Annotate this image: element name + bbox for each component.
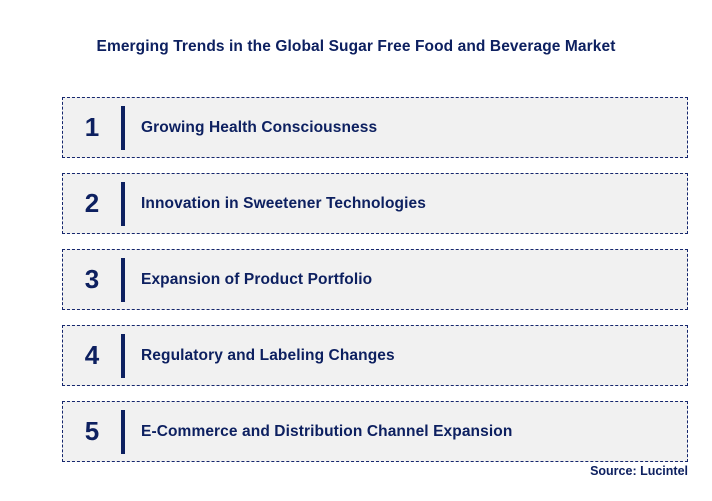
trend-label: E-Commerce and Distribution Channel Expa… [125,423,687,441]
trend-item-5: 5 E-Commerce and Distribution Channel Ex… [62,401,688,462]
trend-item-1: 1 Growing Health Consciousness [62,97,688,158]
trend-label: Growing Health Consciousness [125,119,687,137]
trend-item-2: 2 Innovation in Sweetener Technologies [62,173,688,234]
trend-label: Innovation in Sweetener Technologies [125,195,687,213]
trend-list: 1 Growing Health Consciousness 2 Innovat… [62,97,688,462]
trend-label: Expansion of Product Portfolio [125,271,687,289]
trend-number: 5 [63,418,121,446]
page-title: Emerging Trends in the Global Sugar Free… [0,38,712,56]
infographic-container: Emerging Trends in the Global Sugar Free… [0,0,712,501]
trend-number: 1 [63,114,121,142]
trend-number: 2 [63,190,121,218]
source-attribution: Source: Lucintel [590,464,688,478]
trend-item-4: 4 Regulatory and Labeling Changes [62,325,688,386]
trend-label: Regulatory and Labeling Changes [125,347,687,365]
trend-number: 4 [63,342,121,370]
trend-item-3: 3 Expansion of Product Portfolio [62,249,688,310]
trend-number: 3 [63,266,121,294]
